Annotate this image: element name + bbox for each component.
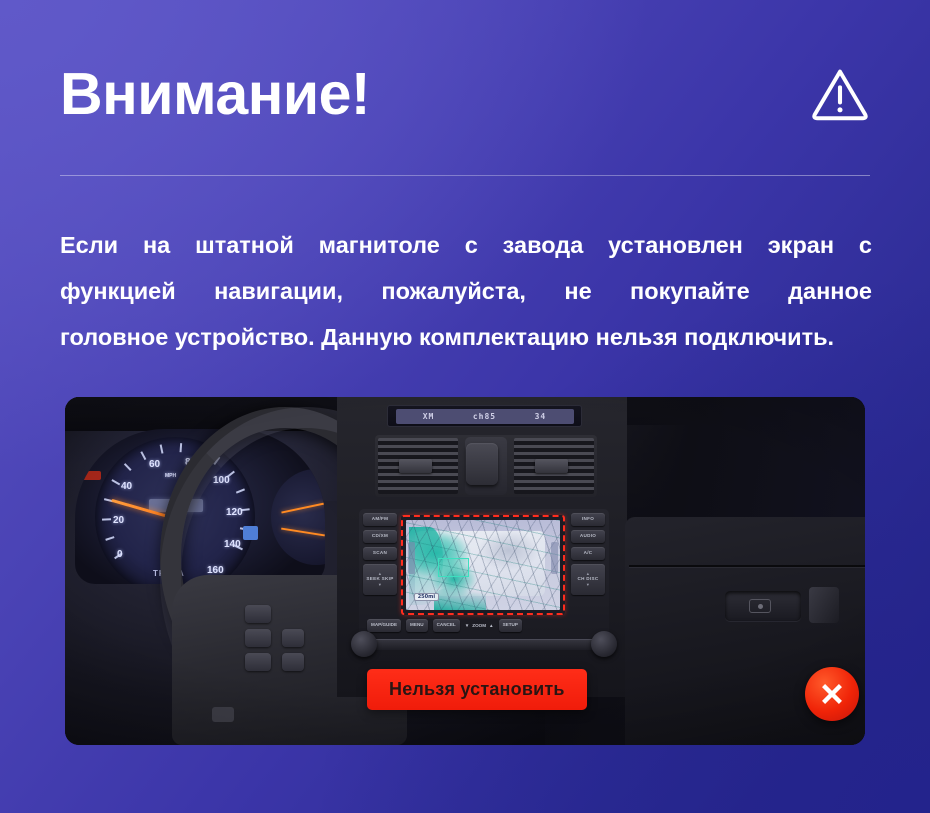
air-vent-right: [514, 438, 594, 494]
dashboard-photo: 0 20 40 60 80 100 120 140 160 MPH TRIP A: [65, 397, 865, 745]
header-divider: [60, 175, 870, 176]
button-menu: MENU: [406, 619, 428, 632]
word: данное: [788, 268, 872, 314]
button-map-guide: MAP/GUIDE: [367, 619, 401, 632]
button-ac: A/C: [571, 547, 605, 560]
warning-triangle-icon: [810, 66, 870, 122]
zoom-down-icon: ▼: [465, 623, 470, 628]
steering-button: [245, 629, 271, 647]
message-line-2: функцией навигации, пожалуйста, не покуп…: [60, 268, 872, 314]
lcd-preset: 34: [535, 412, 547, 421]
word: с: [465, 222, 478, 268]
glovebox-handle: [725, 591, 801, 621]
map-scale-label: 250mi: [414, 593, 439, 601]
word: функцией: [60, 268, 176, 314]
center-console: XM ch85 34 AM/FM CD/XM SCAN ▲ SE: [337, 397, 627, 697]
vent-tab-icon: [399, 459, 433, 473]
word: с: [859, 222, 872, 268]
speed-tick-0: 0: [117, 549, 123, 560]
factory-navigation-screen: 250mi: [406, 520, 560, 610]
cd-slot: [373, 639, 599, 650]
speed-tick-40: 40: [121, 481, 132, 492]
head-unit-left-buttons: AM/FM CD/XM SCAN ▲ SEEK SKIP ▼: [363, 513, 397, 595]
nav-screen-highlight: 250mi: [401, 515, 565, 615]
glovebox-lock-icon: [749, 599, 771, 613]
steering-button: [282, 629, 304, 647]
map-cursor-box: [438, 558, 469, 577]
speed-tick-20: 20: [113, 515, 124, 526]
steering-button: [245, 605, 271, 623]
steering-button: [245, 653, 271, 671]
button-info: INFO: [571, 513, 605, 526]
vent-tab-icon: [535, 459, 569, 473]
message-line-3: головное устройство. Данную комплектацию…: [60, 314, 872, 360]
word: покупайте: [630, 268, 750, 314]
steering-button: [282, 653, 304, 671]
head-unit-right-buttons: INFO AUDIO A/C ▲ CH DISC ▼: [571, 513, 605, 595]
volume-knob: [351, 631, 377, 657]
word: не: [564, 268, 591, 314]
warning-promo-page: Внимание! Если на штатной магнитоле с за…: [0, 0, 930, 813]
word: Если: [60, 222, 118, 268]
word: завода: [503, 222, 584, 268]
zoom-label: ZOOM: [472, 623, 486, 628]
page-title: Внимание!: [60, 65, 370, 124]
cross-circle-icon: [805, 667, 859, 721]
warning-lamp: [81, 471, 101, 480]
button-am-fm: AM/FM: [363, 513, 397, 526]
zoom-up-icon: ▲: [489, 623, 494, 628]
glovebox-seam: [629, 565, 865, 567]
hazard-button: [466, 443, 498, 485]
header: Внимание!: [60, 46, 870, 142]
button-seek-skip: ▲ SEEK SKIP ▼: [363, 564, 397, 595]
warning-message: Если на штатной магнитоле с завода устан…: [60, 222, 872, 360]
word: экран: [768, 222, 834, 268]
word: установлен: [608, 222, 743, 268]
map-tab-right-icon: [551, 542, 558, 574]
word: магнитоле: [319, 222, 440, 268]
button-scan: SCAN: [363, 547, 397, 560]
arrow-down-icon: ▼: [586, 583, 590, 587]
tune-knob: [591, 631, 617, 657]
cross-glyph: [817, 679, 847, 709]
factory-head-unit: AM/FM CD/XM SCAN ▲ SEEK SKIP ▼: [359, 509, 609, 645]
word: навигации,: [214, 268, 343, 314]
word: на: [143, 222, 170, 268]
steering-wheel-badge: [212, 707, 234, 722]
info-lcd-inner: XM ch85 34: [396, 409, 574, 424]
button-audio: AUDIO: [571, 530, 605, 543]
head-unit-bottom-buttons: MAP/GUIDE MENU CANCEL ▼ ZOOM ▲ SETUP: [367, 619, 601, 632]
word: пожалуйста,: [381, 268, 526, 314]
map-tab-left-icon: [408, 542, 415, 574]
button-ch-disc: ▲ CH DISC ▼: [571, 564, 605, 595]
glovebox-notch: [809, 587, 839, 623]
message-line-1: Если на штатной магнитоле с завода устан…: [60, 222, 872, 268]
lcd-source: XM: [423, 412, 435, 421]
speed-tick-60: 60: [149, 459, 160, 470]
info-lcd-strip: XM ch85 34: [387, 405, 582, 427]
air-vent-left: [378, 438, 458, 494]
lcd-channel: ch85: [473, 412, 496, 421]
button-cd-xm: CD/XM: [363, 530, 397, 543]
button-setup: SETUP: [499, 619, 522, 632]
arrow-down-icon: ▼: [378, 583, 382, 587]
button-cancel: CANCEL: [433, 619, 460, 632]
word: штатной: [195, 222, 294, 268]
zoom-controls: ▼ ZOOM ▲: [465, 623, 494, 628]
cannot-install-badge: Нельзя установить: [367, 669, 587, 710]
